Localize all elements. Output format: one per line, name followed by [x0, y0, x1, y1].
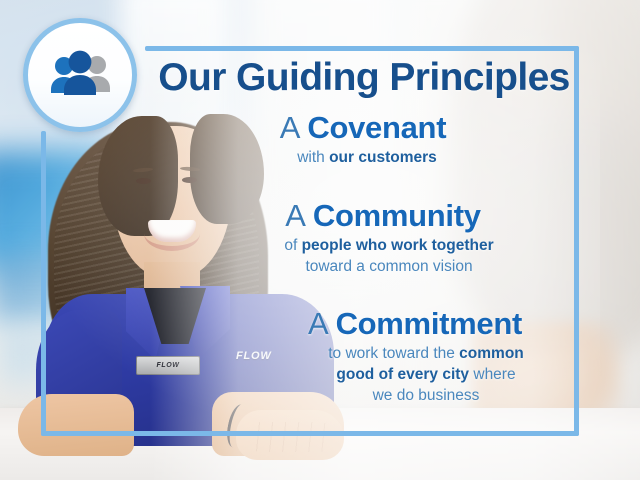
people-group-icon	[49, 49, 111, 101]
detail-emphasis: our customers	[329, 149, 437, 166]
detail-emphasis: common	[459, 345, 524, 362]
principle-headline: A Community	[140, 200, 580, 232]
principle-keyword: Commitment	[336, 306, 522, 341]
principle-article: A	[280, 110, 308, 145]
principle-commitment: A Commitment to work toward the common g…	[140, 308, 580, 407]
page-title: Our Guiding Principles	[150, 58, 578, 97]
detail-tail: where	[469, 366, 516, 383]
text-content: Our Guiding Principles A Covenant with o…	[140, 50, 580, 436]
detail-lead: to work toward the	[328, 345, 459, 362]
principle-article: A	[285, 198, 313, 233]
principle-detail: of people who work together toward a com…	[140, 236, 580, 278]
detail-line-3: we do business	[272, 386, 580, 407]
detail-line-1: to work toward the common	[272, 344, 580, 365]
principle-covenant: A Covenant with our customers	[140, 112, 580, 169]
arm-left	[18, 394, 134, 456]
detail-line-2: toward a common vision	[198, 257, 580, 278]
promo-graphic: FLOW FLOW Our Guiding Princip	[0, 0, 640, 480]
principle-detail: to work toward the common good of every …	[140, 344, 580, 407]
principle-detail: with our customers	[140, 148, 580, 169]
principle-keyword: Community	[313, 198, 481, 233]
detail-lead: of	[284, 237, 301, 254]
principle-article: A	[308, 306, 336, 341]
detail-emphasis-2: good of every city	[336, 366, 469, 383]
detail-emphasis: people who work together	[302, 237, 494, 254]
principle-headline: A Covenant	[140, 112, 580, 144]
principle-community: A Community of people who work together …	[140, 200, 580, 278]
detail-lead: with	[297, 149, 329, 166]
people-group-icon-badge	[23, 18, 137, 132]
detail-line-2: good of every city where	[272, 365, 580, 386]
principle-headline: A Commitment	[140, 308, 580, 340]
principle-keyword: Covenant	[307, 110, 446, 145]
detail-line-1: of people who work together	[198, 236, 580, 257]
